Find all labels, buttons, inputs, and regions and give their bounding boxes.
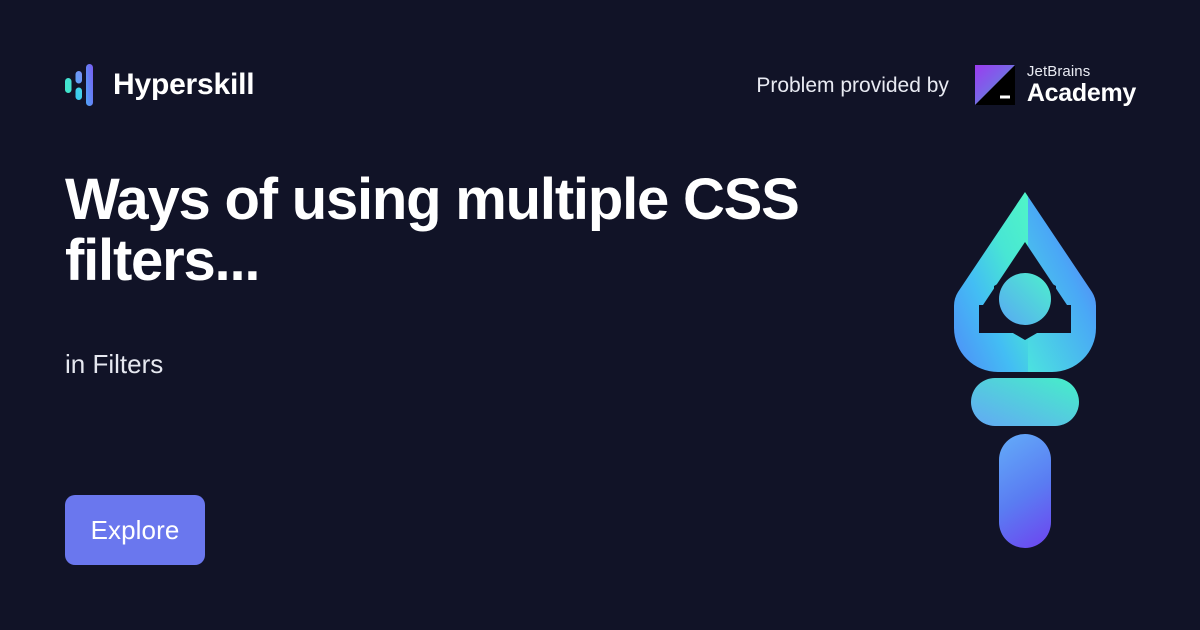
problem-card: Hyperskill Problem provided by	[0, 0, 1200, 630]
jetbrains-academy-logo[interactable]: JetBrains Academy	[975, 64, 1136, 106]
explore-button[interactable]: Explore	[65, 495, 205, 565]
hyperskill-bars-icon	[65, 64, 95, 106]
hyperskill-brand[interactable]: Hyperskill	[65, 64, 254, 106]
academy-label: Academy	[1027, 81, 1136, 106]
filter-pen-nib-icon	[940, 180, 1110, 560]
jetbrains-square-icon	[975, 65, 1015, 105]
page-title: Ways of using multiple CSS filters...	[65, 170, 825, 292]
main-content: Ways of using multiple CSS filters... in…	[65, 170, 855, 377]
provider-label: Problem provided by	[756, 75, 949, 96]
jetbrains-label: JetBrains	[1027, 64, 1136, 79]
jetbrains-academy-wordmark: JetBrains Academy	[1027, 64, 1136, 106]
header: Hyperskill Problem provided by	[65, 52, 1136, 118]
provider-block: Problem provided by	[756, 64, 1136, 106]
topic-subtitle: in Filters	[65, 292, 855, 377]
brand-name: Hyperskill	[113, 70, 254, 100]
